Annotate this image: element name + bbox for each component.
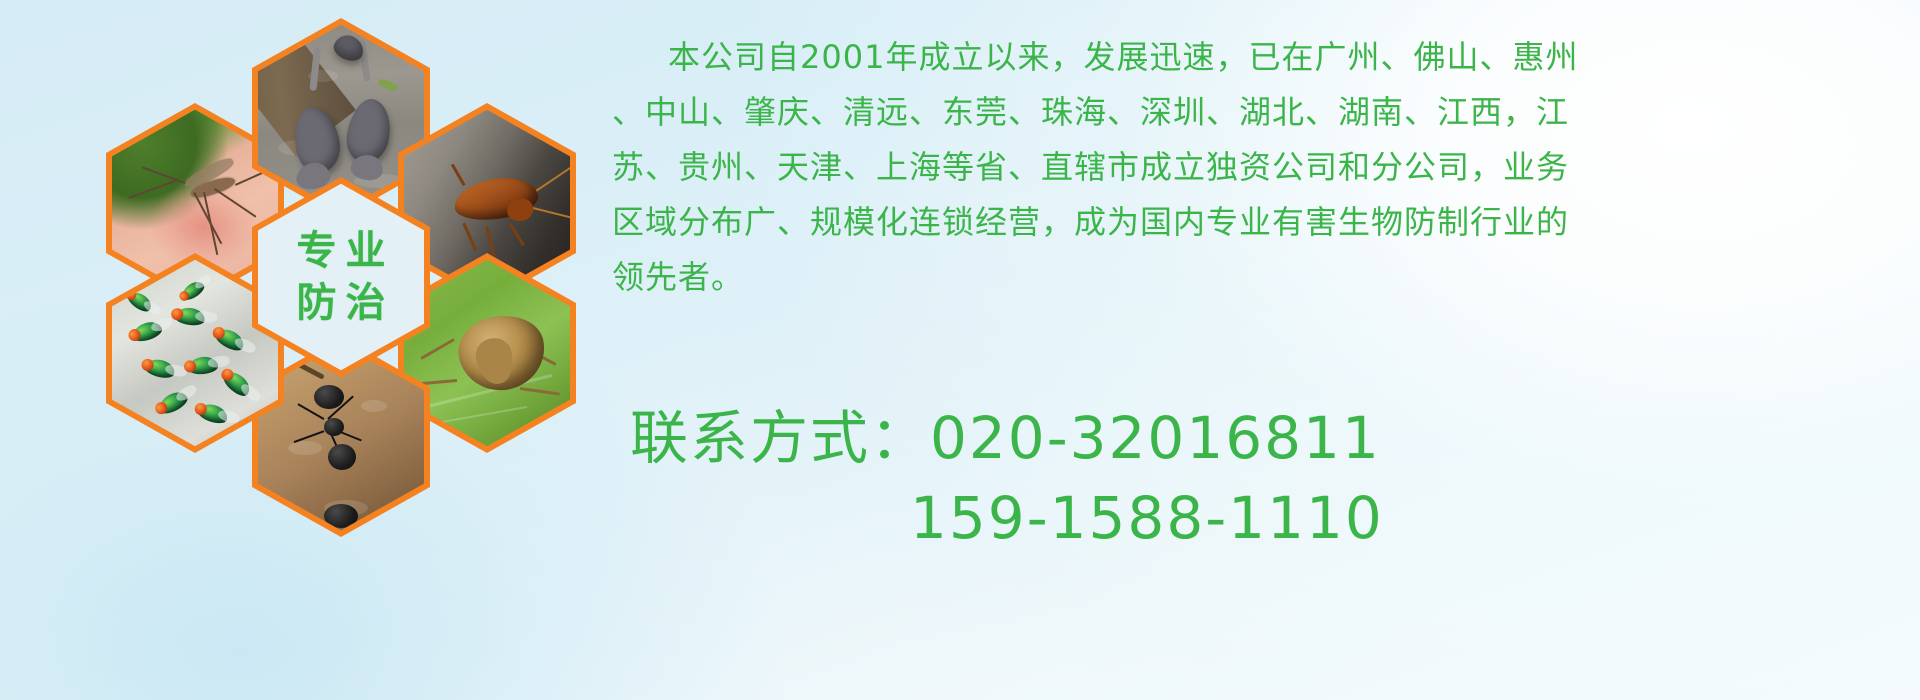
description-line-5: 领先者。 [612, 250, 1877, 305]
description-line-2: 、中山、肇庆、清远、东莞、珠海、深圳、湖北、湖南、江西，江 [612, 85, 1877, 140]
hex-center-surface: 专业 防治 [258, 184, 424, 370]
description-line-1: 本公司自2001年成立以来，发展迅速，已在广州、佛山、惠州 [612, 30, 1877, 85]
honeycomb-collage: 专业 防治 [86, 0, 596, 562]
contact-block: 联系方式：020-32016811 159-1588-1110 [620, 398, 1900, 558]
center-slogan: 专业 防治 [258, 184, 424, 370]
description-text-1: 本公司自2001年成立以来，发展迅速，已在广州、佛山、惠州 [668, 38, 1578, 76]
description-line-4: 区域分布广、规模化连锁经营，成为国内专业有害生物防制行业的 [612, 195, 1877, 250]
slogan-line-2: 防治 [288, 283, 395, 323]
slogan-line-1: 专业 [288, 231, 395, 271]
promo-banner: 专业 防治 本公司自2001年成立以来，发展迅速，已在广州、佛山、惠州 、中山、… [0, 0, 1920, 700]
company-description: 本公司自2001年成立以来，发展迅速，已在广州、佛山、惠州 、中山、肇庆、清远、… [612, 30, 1877, 305]
contact-secondary[interactable]: 159-1588-1110 [620, 478, 1900, 558]
description-line-3: 苏、贵州、天津、上海等省、直辖市成立独资公司和分公司，业务 [612, 140, 1877, 195]
contact-primary[interactable]: 联系方式：020-32016811 [620, 398, 1900, 478]
